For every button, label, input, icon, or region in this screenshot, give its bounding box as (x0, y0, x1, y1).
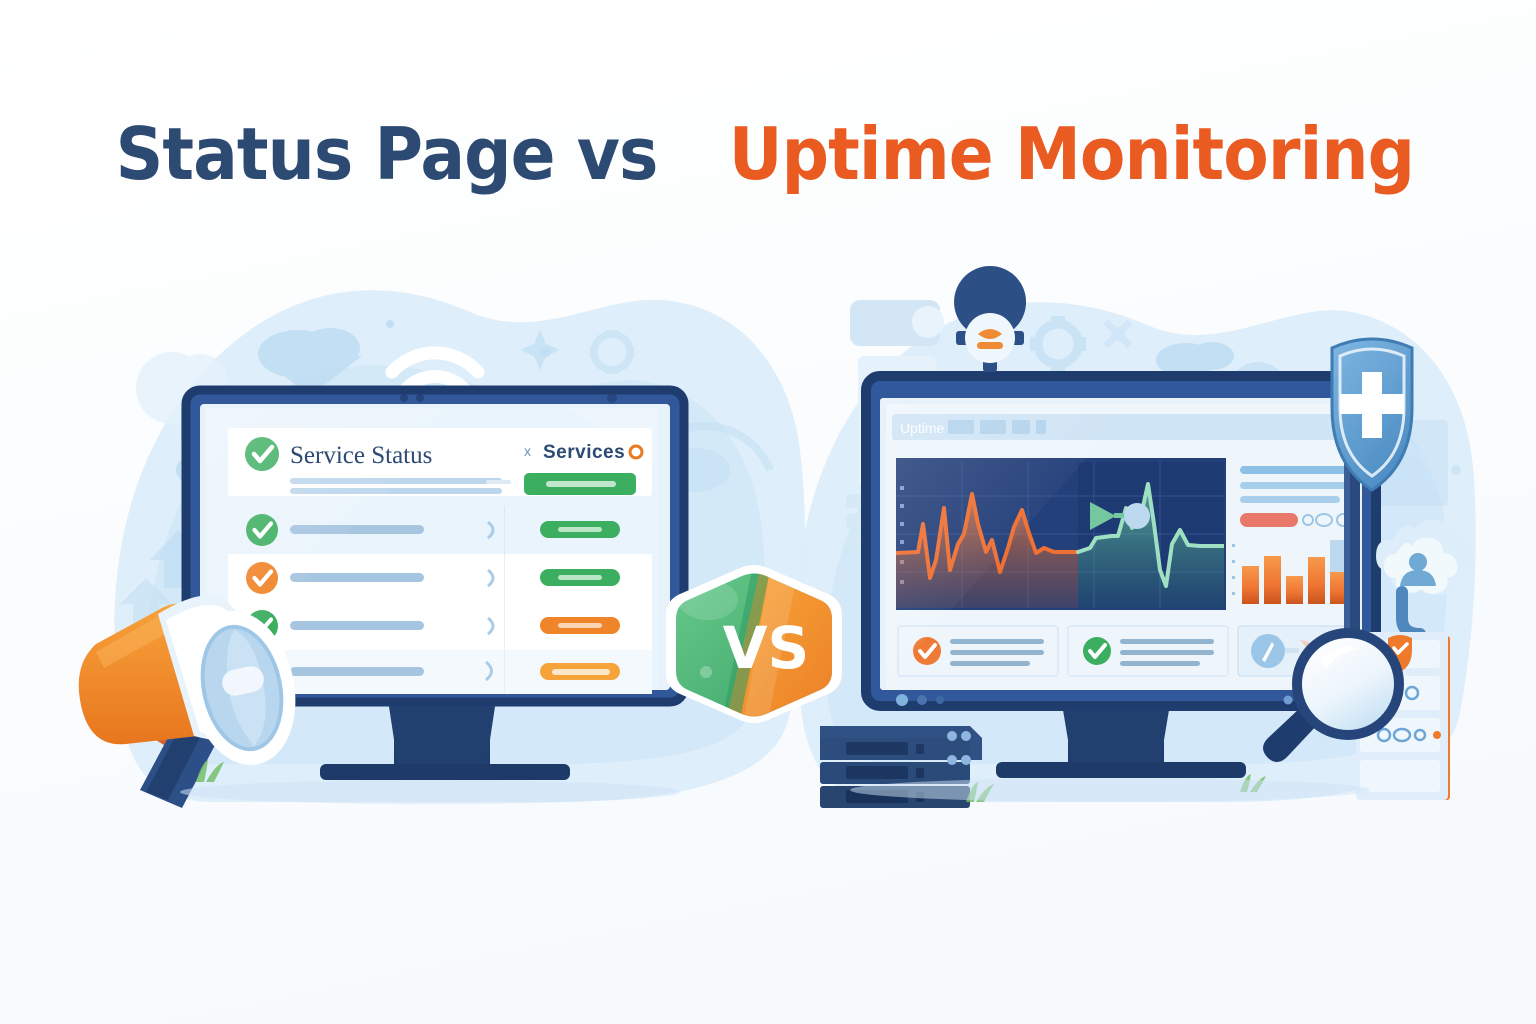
vs-label: VS (723, 614, 810, 682)
page-title: Status Page vs Uptime Monitoring (0, 118, 1536, 190)
metric-card[interactable] (1068, 626, 1228, 676)
title-part-orange: Uptime Monitoring (729, 118, 1414, 190)
status-row[interactable] (228, 602, 652, 650)
title-part-navy: Status Page vs (115, 118, 657, 190)
uptime-header-text: Uptime (900, 420, 945, 436)
svc-brand: Services (543, 442, 625, 463)
svc-brandx: x (524, 443, 531, 459)
svc-title: Service Status (290, 442, 432, 469)
monitoring-dashboard-screen (880, 398, 1367, 690)
